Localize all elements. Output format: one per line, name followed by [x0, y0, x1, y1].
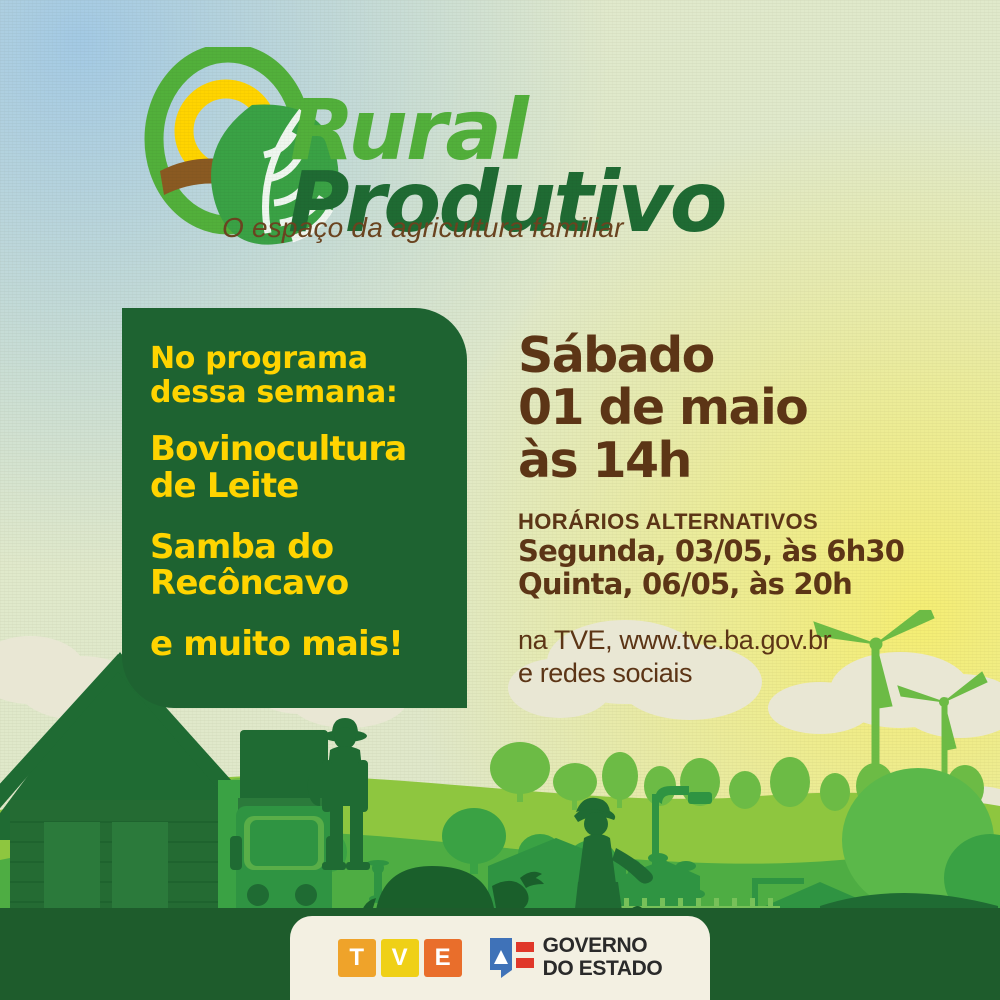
- panel-item-3: e muito mais!: [150, 626, 449, 663]
- schedule-block: Sábado 01 de maio às 14h HORÁRIOS ALTERN…: [518, 330, 958, 689]
- poster-canvas: Rural Produtivo O espaço da agricultura …: [0, 0, 1000, 1000]
- tve-letter-e: E: [424, 939, 462, 977]
- tve-letter-t: T: [338, 939, 376, 977]
- where-line1: na TVE, www.tve.ba.gov.br: [518, 624, 958, 656]
- panel-lead-line1: No programa: [150, 342, 449, 376]
- main-day: Sábado: [518, 330, 958, 382]
- alt-time-2: Quinta, 06/05, às 20h: [518, 568, 958, 600]
- panel-item-1-line1: Bovinocultura: [150, 431, 449, 468]
- governo-line2: DO ESTADO: [543, 958, 663, 981]
- panel-item-2-line1: Samba do: [150, 529, 449, 566]
- alt-times-label: HORÁRIOS ALTERNATIVOS: [518, 509, 958, 535]
- panel-item-2-line2: Recôncavo: [150, 565, 449, 602]
- panel-item-2: Samba do Recôncavo: [150, 529, 449, 602]
- tve-letter-v: V: [381, 939, 419, 977]
- where-line2: e redes sociais: [518, 657, 958, 689]
- footer-logos-card: T V E GOVERNO DO ESTADO: [290, 916, 710, 1000]
- tve-logo: T V E: [338, 939, 462, 977]
- panel-item-1-line2: de Leite: [150, 468, 449, 505]
- governo-line1: GOVERNO: [543, 935, 663, 958]
- governo-do-estado-logo: GOVERNO DO ESTADO: [490, 935, 663, 980]
- panel-lead-line2: dessa semana:: [150, 376, 449, 410]
- panel-item-1: Bovinocultura de Leite: [150, 431, 449, 504]
- main-broadcast-time: Sábado 01 de maio às 14h: [518, 330, 958, 487]
- weekly-program-panel: No programa dessa semana: Bovinocultura …: [122, 308, 467, 708]
- main-time: às 14h: [518, 435, 958, 487]
- panel-lead: No programa dessa semana:: [150, 342, 449, 409]
- main-date: 01 de maio: [518, 382, 958, 434]
- alt-time-1: Segunda, 03/05, às 6h30: [518, 535, 958, 567]
- alt-times-list: Segunda, 03/05, às 6h30 Quinta, 06/05, à…: [518, 535, 958, 600]
- panel-item-3-line1: e muito mais!: [150, 626, 449, 663]
- where-to-watch: na TVE, www.tve.ba.gov.br e redes sociai…: [518, 624, 958, 689]
- governo-text: GOVERNO DO ESTADO: [543, 935, 663, 980]
- bahia-flag-icon: [490, 938, 534, 978]
